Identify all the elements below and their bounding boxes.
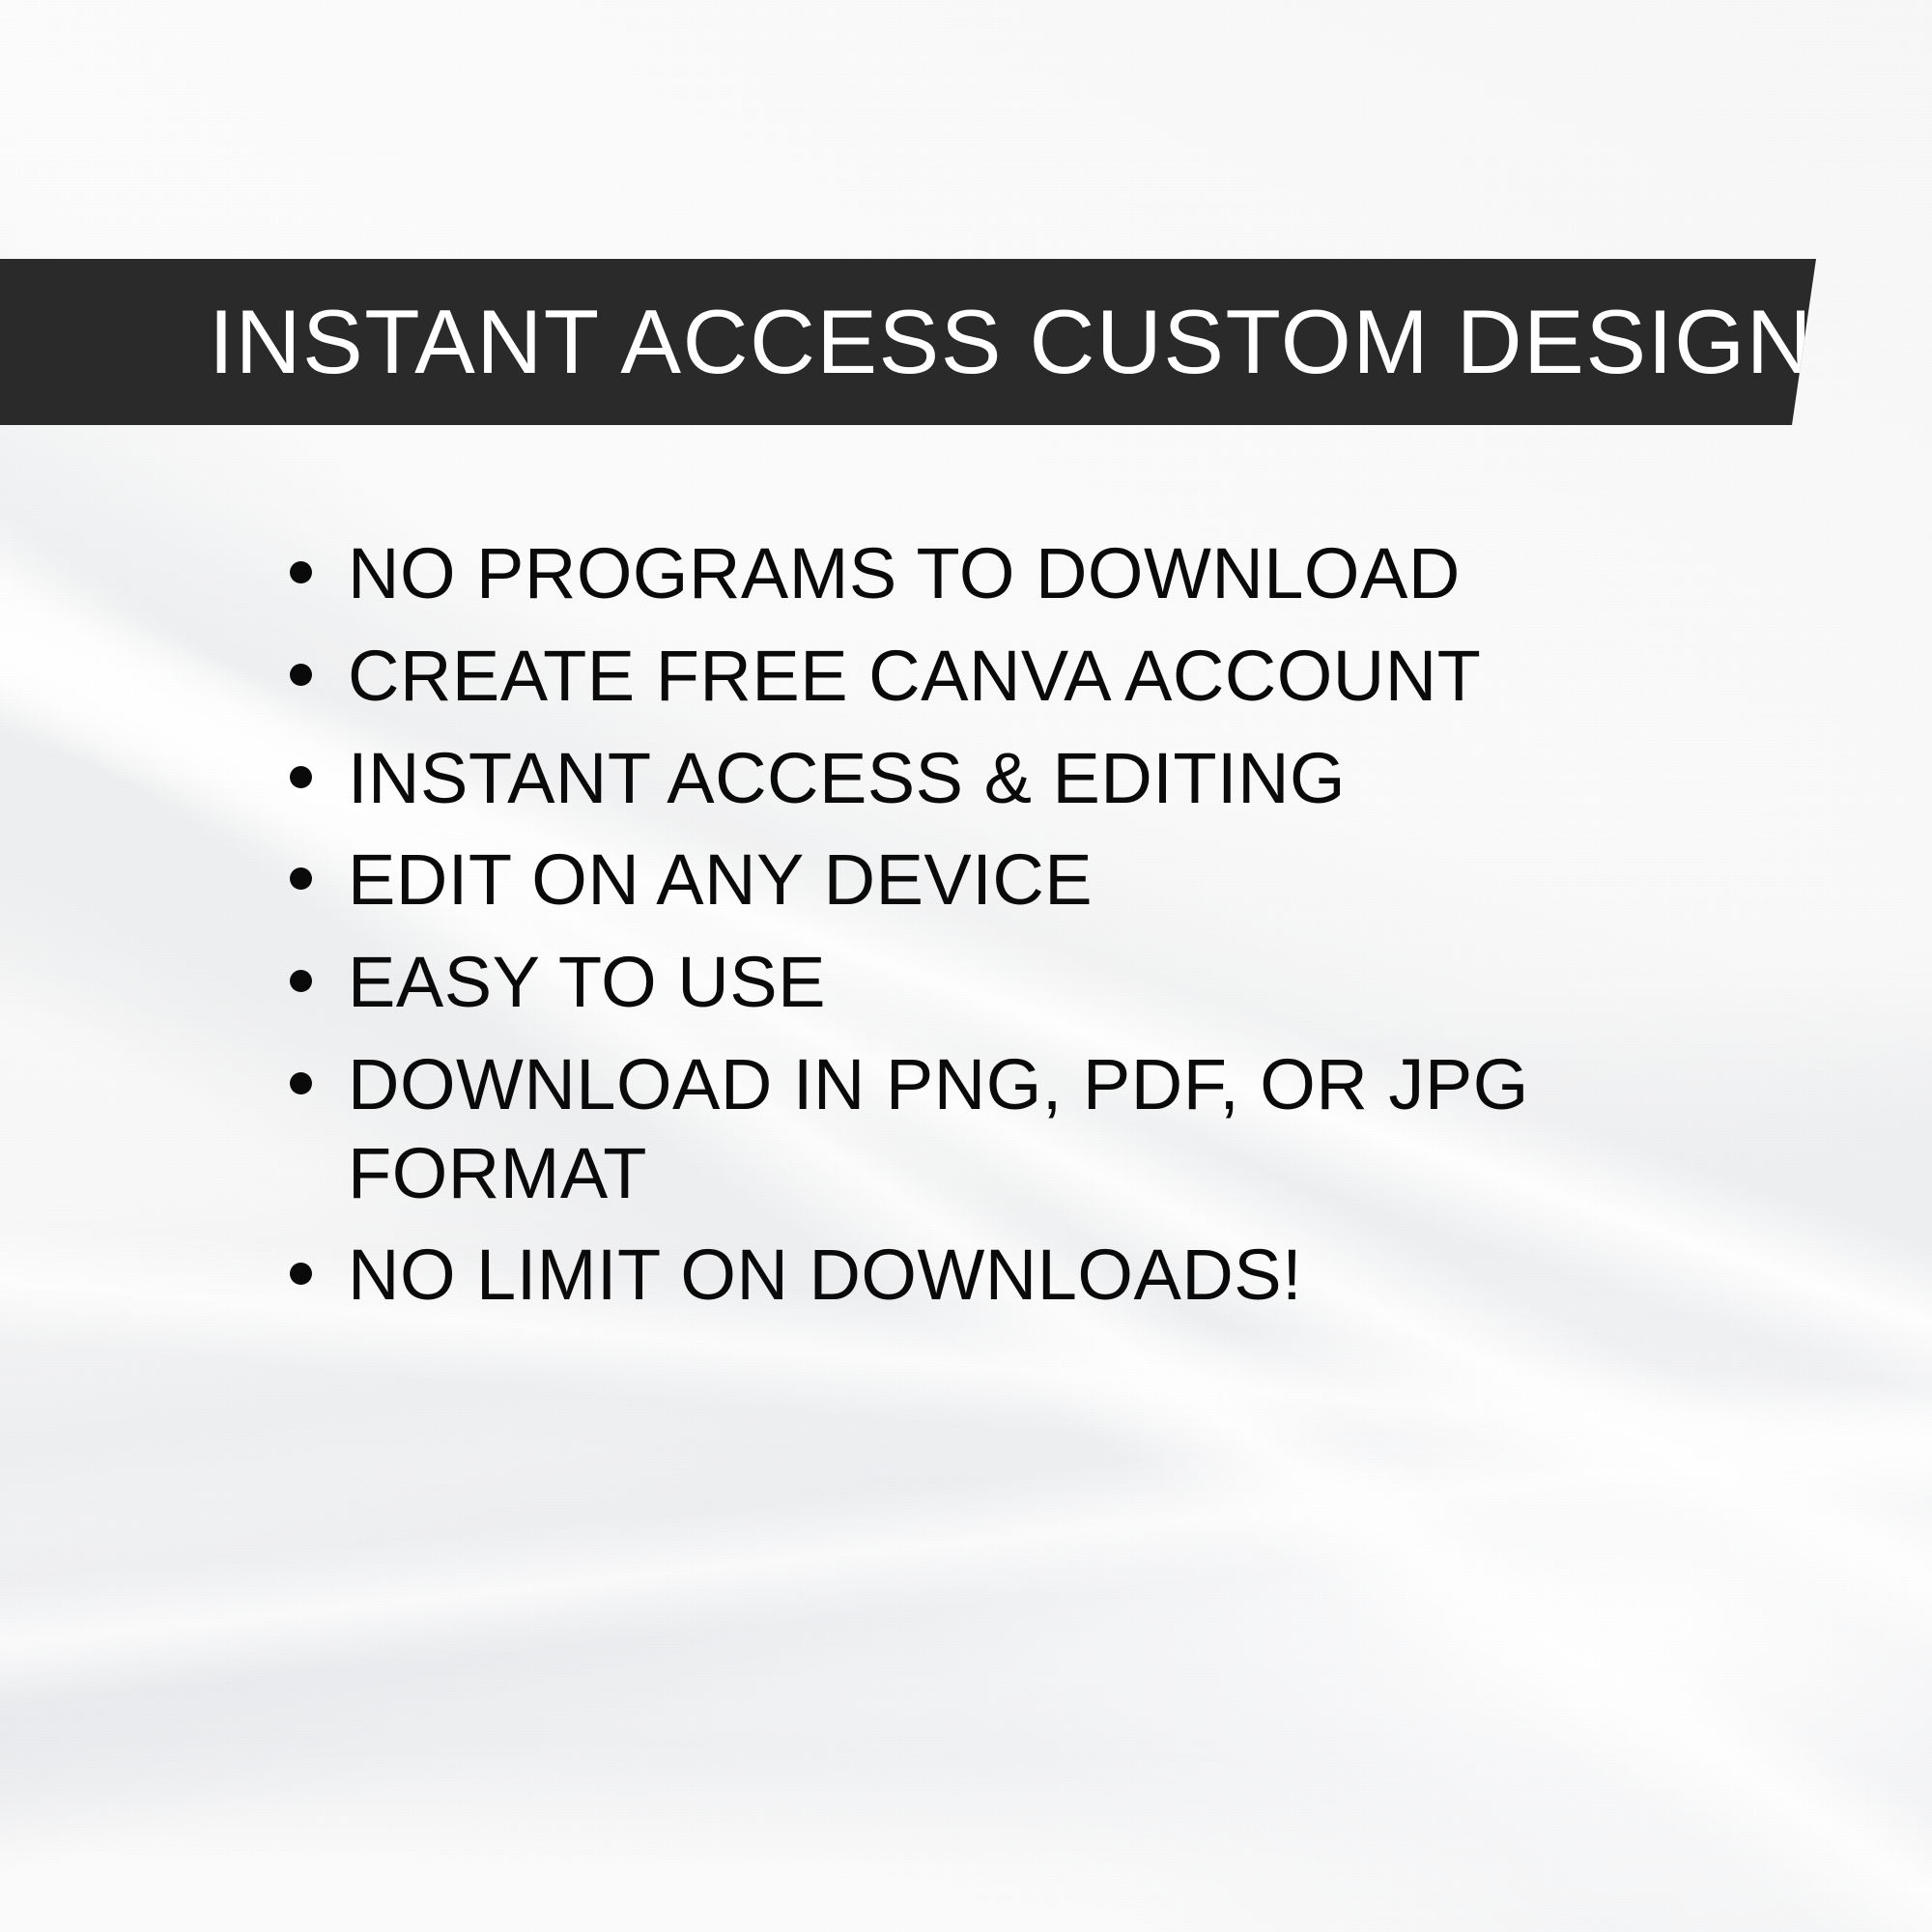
list-item: DOWNLOAD IN PNG, PDF, OR JPG FORMAT	[282, 1040, 1654, 1218]
page-title: INSTANT ACCESS CUSTOM DESIGNS	[209, 297, 1875, 387]
list-item: CREATE FREE CANVA ACCOUNT	[282, 632, 1654, 721]
list-item: INSTANT ACCESS & EDITING	[282, 734, 1654, 823]
bullet-dot-icon	[290, 766, 312, 788]
promo-graphic-canvas: INSTANT ACCESS CUSTOM DESIGNS NO PROGRAM…	[0, 0, 1932, 1932]
bullet-dot-icon	[290, 867, 312, 890]
list-item-label: EDIT ON ANY DEVICE	[348, 836, 1654, 924]
list-item-label: NO PROGRAMS TO DOWNLOAD	[348, 529, 1654, 618]
list-item: NO PROGRAMS TO DOWNLOAD	[282, 529, 1654, 618]
list-item: EASY TO USE	[282, 938, 1654, 1027]
bullet-dot-icon	[290, 664, 312, 686]
bullet-dot-icon	[290, 1072, 312, 1094]
bullet-dot-icon	[290, 561, 312, 583]
bullet-dot-icon	[290, 1263, 312, 1285]
feature-list: NO PROGRAMS TO DOWNLOAD CREATE FREE CANV…	[282, 529, 1654, 1333]
list-item-label: NO LIMIT ON DOWNLOADS!	[348, 1231, 1654, 1320]
list-item-label: DOWNLOAD IN PNG, PDF, OR JPG FORMAT	[348, 1040, 1654, 1218]
list-item: NO LIMIT ON DOWNLOADS!	[282, 1231, 1654, 1320]
bullet-dot-icon	[290, 970, 312, 992]
list-item-label: INSTANT ACCESS & EDITING	[348, 734, 1654, 823]
list-item-label: CREATE FREE CANVA ACCOUNT	[348, 632, 1654, 721]
list-item: EDIT ON ANY DEVICE	[282, 836, 1654, 924]
list-item-label: EASY TO USE	[348, 938, 1654, 1027]
header-banner: INSTANT ACCESS CUSTOM DESIGNS	[0, 259, 1816, 425]
